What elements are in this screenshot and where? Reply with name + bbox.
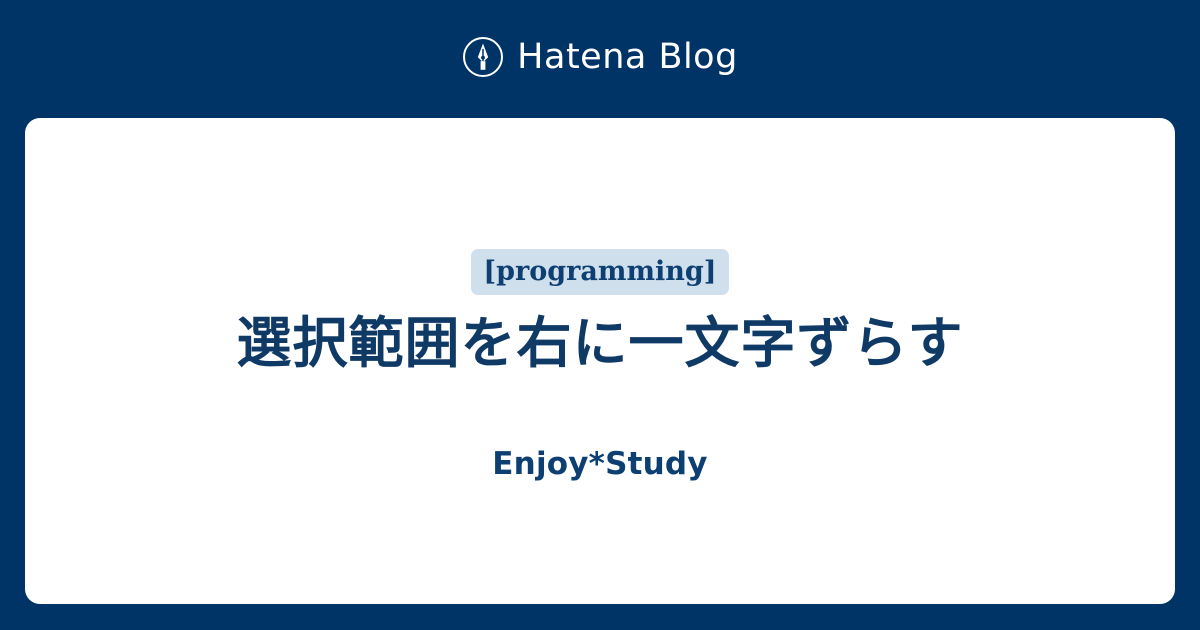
hatena-blog-og-card: Hatena Blog [programming] 選択範囲を右に一文字ずらす … — [0, 0, 1200, 630]
brand-name: Hatena Blog — [517, 40, 738, 75]
brand-header: Hatena Blog — [0, 0, 1200, 118]
blog-title[interactable]: Enjoy*Study — [492, 449, 707, 480]
hatena-pen-nib-icon — [462, 36, 504, 78]
entry-title: 選択範囲を右に一文字ずらす — [197, 311, 1004, 376]
brand-lockup[interactable]: Hatena Blog — [462, 36, 738, 78]
entry-card: [programming] 選択範囲を右に一文字ずらす Enjoy*Study — [25, 118, 1175, 604]
category-row: [programming] — [25, 249, 1175, 295]
entry-card-content: [programming] 選択範囲を右に一文字ずらす Enjoy*Study — [25, 118, 1175, 480]
category-badge[interactable]: [programming] — [471, 249, 728, 295]
blog-title-row: Enjoy*Study — [25, 449, 1175, 480]
